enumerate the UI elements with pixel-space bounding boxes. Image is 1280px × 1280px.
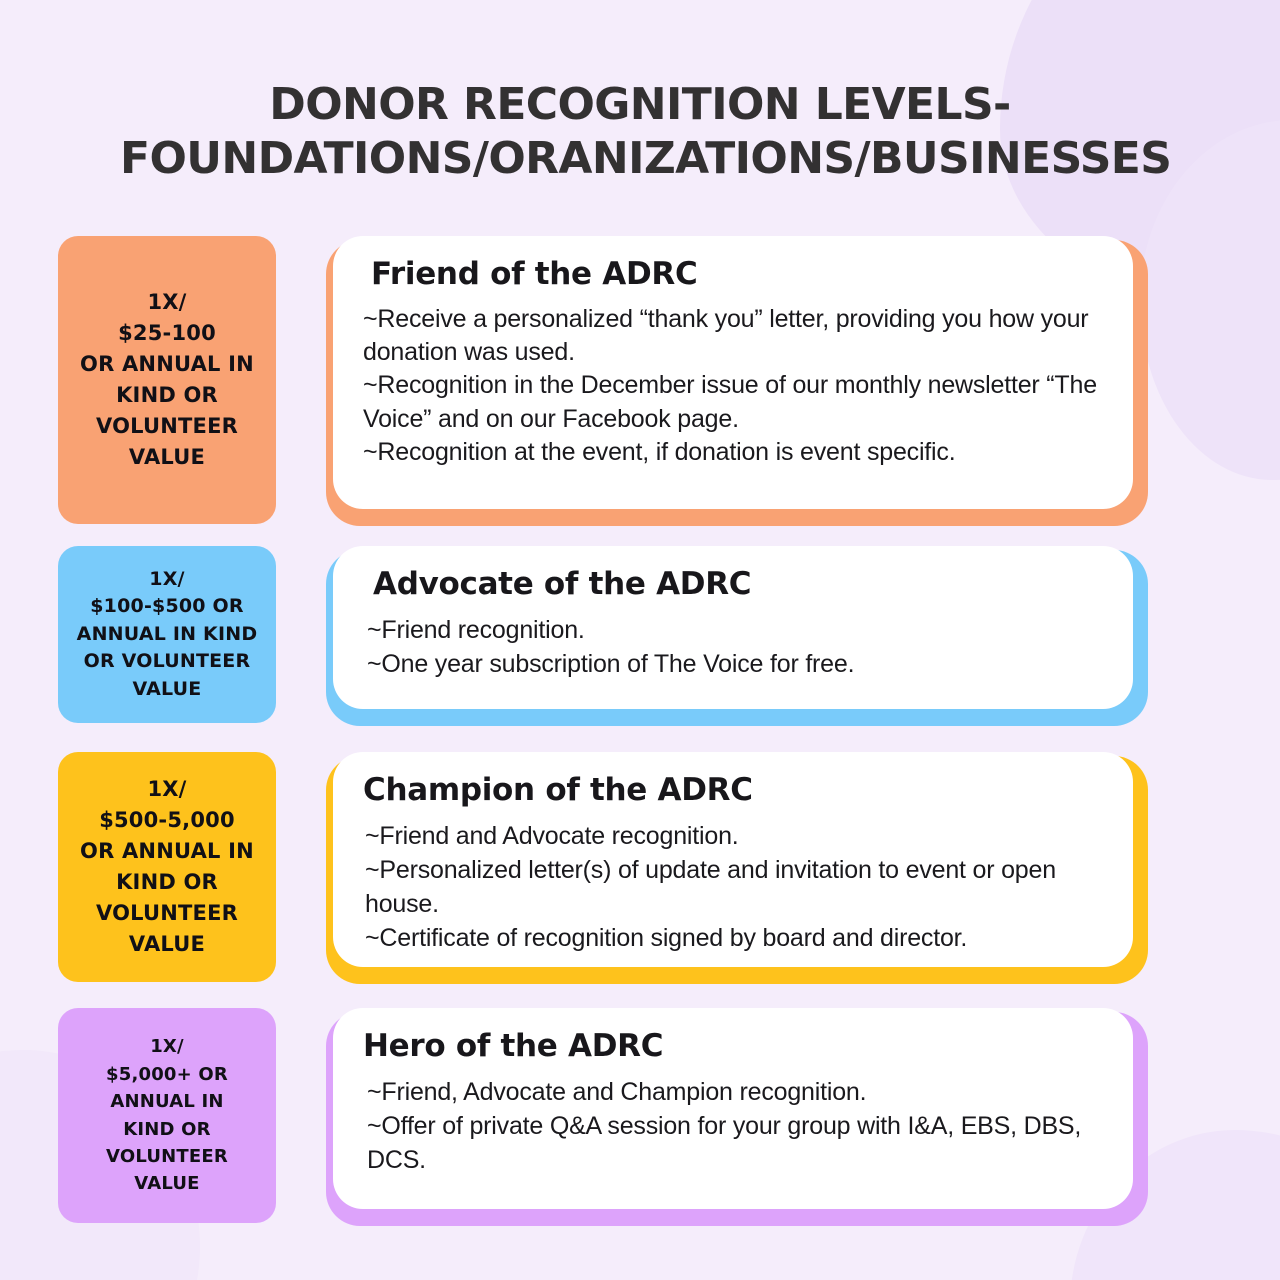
benefit-item: ~Friend, Advocate and Champion recogniti… xyxy=(367,1075,1107,1109)
benefit-item: ~One year subscription of The Voice for … xyxy=(367,647,1107,682)
card-heading-champion: Champion of the ADRC xyxy=(363,772,1107,809)
donation-amount-badge-friend: 1X/ $25-100 OR ANNUAL IN KIND OR VOLUNTE… xyxy=(58,236,276,524)
tier-card-advocate: Advocate of the ADRC ~Friend recognition… xyxy=(326,546,1148,726)
badge-amount-text: 1X/ $25-100 OR ANNUAL IN KIND OR VOLUNTE… xyxy=(80,287,254,473)
tier-card-hero: Hero of the ADRC ~Friend, Advocate and C… xyxy=(326,1008,1148,1226)
card-benefit-list-advocate: ~Friend recognition. ~One year subscript… xyxy=(367,613,1107,682)
tier-card-champion: Champion of the ADRC ~Friend and Advocat… xyxy=(326,752,1148,984)
page-title: DONOR RECOGNITION LEVELS-FOUNDATIONS/ORA… xyxy=(120,78,1160,186)
badge-amount-text: 1X/ $5,000+ OR ANNUAL IN KIND OR VOLUNTE… xyxy=(106,1033,228,1197)
card-heading-advocate: Advocate of the ADRC xyxy=(373,566,1107,603)
tier-row-advocate: 1X/ $100-$500 OR ANNUAL IN KIND OR VOLUN… xyxy=(0,546,1280,726)
benefit-item: ~Personalized letter(s) of update and in… xyxy=(365,853,1107,921)
card-heading-hero: Hero of the ADRC xyxy=(363,1028,1107,1065)
badge-amount-text: 1X/ $500-5,000 OR ANNUAL IN KIND OR VOLU… xyxy=(80,774,254,960)
donation-amount-badge-champion: 1X/ $500-5,000 OR ANNUAL IN KIND OR VOLU… xyxy=(58,752,276,982)
card-face: Friend of the ADRC ~Receive a personaliz… xyxy=(333,236,1133,509)
benefit-item: ~Certificate of recognition signed by bo… xyxy=(365,921,1107,955)
benefit-item: ~Offer of private Q&A session for your g… xyxy=(367,1109,1107,1177)
benefit-item: ~Recognition in the December issue of ou… xyxy=(363,369,1107,436)
benefit-item: ~Friend and Advocate recognition. xyxy=(365,819,1107,853)
benefit-item: ~Recognition at the event, if donation i… xyxy=(363,436,1107,469)
card-benefit-list-friend: ~Receive a personalized “thank you” lett… xyxy=(363,303,1107,470)
benefit-item: ~Receive a personalized “thank you” lett… xyxy=(363,303,1107,370)
card-face: Champion of the ADRC ~Friend and Advocat… xyxy=(333,752,1133,967)
card-face: Hero of the ADRC ~Friend, Advocate and C… xyxy=(333,1008,1133,1209)
card-heading-friend: Friend of the ADRC xyxy=(371,256,1107,293)
card-benefit-list-hero: ~Friend, Advocate and Champion recogniti… xyxy=(367,1075,1107,1177)
card-benefit-list-champion: ~Friend and Advocate recognition. ~Perso… xyxy=(365,819,1107,955)
benefit-item: ~Friend recognition. xyxy=(367,613,1107,648)
donation-amount-badge-hero: 1X/ $5,000+ OR ANNUAL IN KIND OR VOLUNTE… xyxy=(58,1008,276,1223)
tier-row-hero: 1X/ $5,000+ OR ANNUAL IN KIND OR VOLUNTE… xyxy=(0,1008,1280,1226)
badge-amount-text: 1X/ $100-$500 OR ANNUAL IN KIND OR VOLUN… xyxy=(77,566,258,704)
tier-card-friend: Friend of the ADRC ~Receive a personaliz… xyxy=(326,236,1148,526)
tier-row-champion: 1X/ $500-5,000 OR ANNUAL IN KIND OR VOLU… xyxy=(0,752,1280,984)
infographic-page: DONOR RECOGNITION LEVELS-FOUNDATIONS/ORA… xyxy=(0,0,1280,1280)
card-face: Advocate of the ADRC ~Friend recognition… xyxy=(333,546,1133,709)
tier-row-friend: 1X/ $25-100 OR ANNUAL IN KIND OR VOLUNTE… xyxy=(0,236,1280,526)
donation-amount-badge-advocate: 1X/ $100-$500 OR ANNUAL IN KIND OR VOLUN… xyxy=(58,546,276,723)
